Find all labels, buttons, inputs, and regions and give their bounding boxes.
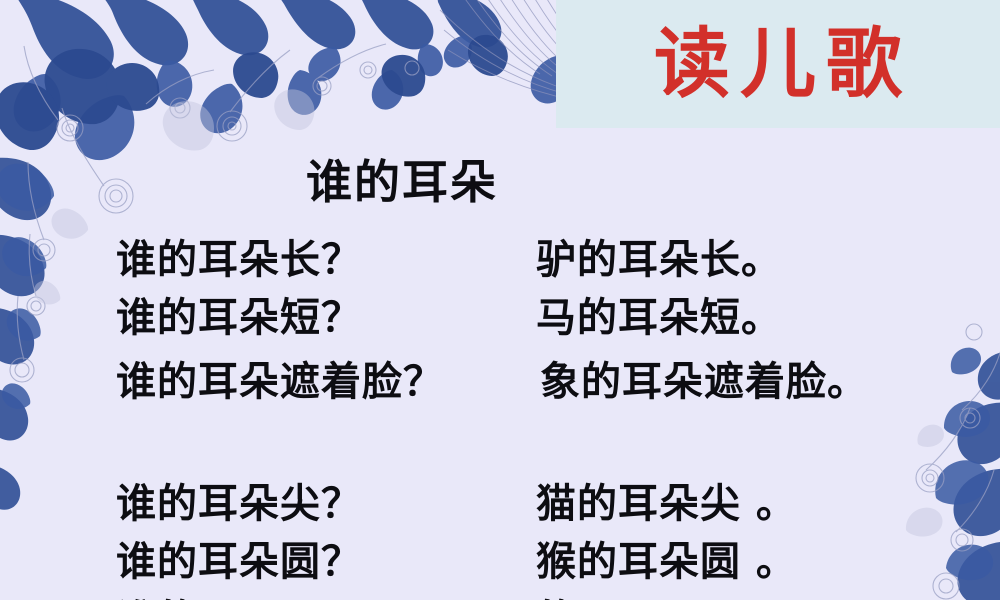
poem-line: 谁的耳朵长？驴的耳朵长。 [116,234,1000,286]
poem-line-question: 谁的耳朵圆？ [116,536,536,588]
poem-line-question: 谁的耳朵短？ [116,292,536,344]
poem-line: 谁的耳朵尖？猫的耳朵尖 。 [116,478,1000,530]
poem-line-question: 谁的耳朵尖？ [116,478,536,530]
poem-line: 谁的耳朵遮着脸？象的耳朵遮着脸。 [116,356,1000,408]
poem-line-answer: 象的耳朵遮着脸。 [540,356,868,408]
poem-line-answer: 驴的耳朵长。 [536,234,782,286]
poem-line-question: 谁的耳朵长？ [116,234,536,286]
poem-line-answer: 猫的耳朵尖 。 [536,478,797,530]
poem-line: 谁的耳朵圆？猴的耳朵圆 。 [116,536,1000,588]
poem-line-answer: 的耳朵 [536,594,659,600]
poem-line: 谁的耳朵短？马的耳朵短。 [116,292,1000,344]
poem-line-question: 谁的耳朵 [116,594,536,600]
poem-line-answer: 马的耳朵短。 [536,292,782,344]
poem-line-question: 谁的耳朵遮着脸？ [116,356,540,408]
slide-canvas: 读儿歌 谁的耳朵 谁的耳朵长？驴的耳朵长。 谁的耳朵短？马的耳朵短。 谁的耳朵遮… [0,0,1000,600]
poem-body: 谁的耳朵 谁的耳朵长？驴的耳朵长。 谁的耳朵短？马的耳朵短。 谁的耳朵遮着脸？象… [0,0,1000,600]
poem-heading: 谁的耳朵 [306,156,498,208]
poem-line-clipped: 谁的耳朵的耳朵 [116,594,1000,600]
poem-line-answer: 猴的耳朵圆 。 [536,536,797,588]
